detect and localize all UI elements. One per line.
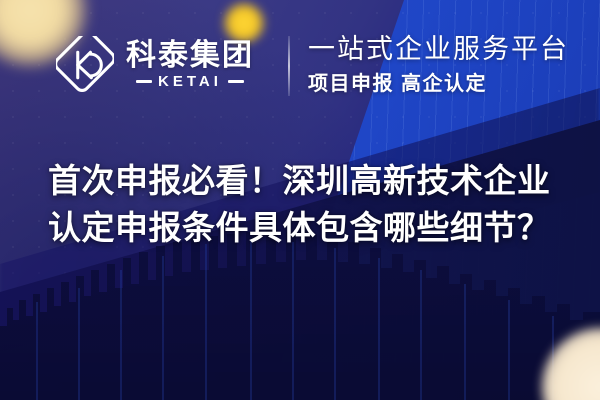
tagline-main-text: 一站式企业服务平台 xyxy=(308,34,569,66)
logo-chinese-name: 科泰集团 xyxy=(126,40,254,72)
headline-line-1: 首次申报必看！深圳高新技术企业 xyxy=(48,158,552,205)
ketai-diamond-kd-logo-icon xyxy=(56,36,114,94)
logo-english-name: KETAI xyxy=(158,73,222,90)
dash-icon xyxy=(228,80,244,83)
vertical-divider-icon xyxy=(288,36,290,96)
brand-tagline: 一站式企业服务平台 项目申报 高企认定 xyxy=(308,34,569,96)
brand-logo: 科泰集团 KETAI xyxy=(56,36,254,94)
dash-icon xyxy=(136,80,152,83)
promo-banner: 科泰集团 KETAI 一站式企业服务平台 项目申报 高企认定 首次申报必看！深圳… xyxy=(0,0,600,400)
banner-header: 科泰集团 KETAI 一站式企业服务平台 项目申报 高企认定 xyxy=(0,30,600,116)
tagline-sub-text: 项目申报 高企认定 xyxy=(308,72,569,96)
city-skyline-silhouette-icon xyxy=(0,230,600,400)
headline-block: 首次申报必看！深圳高新技术企业 认定申报条件具体包含哪些细节？ xyxy=(0,158,600,252)
headline-line-2: 认定申报条件具体包含哪些细节？ xyxy=(48,205,552,252)
